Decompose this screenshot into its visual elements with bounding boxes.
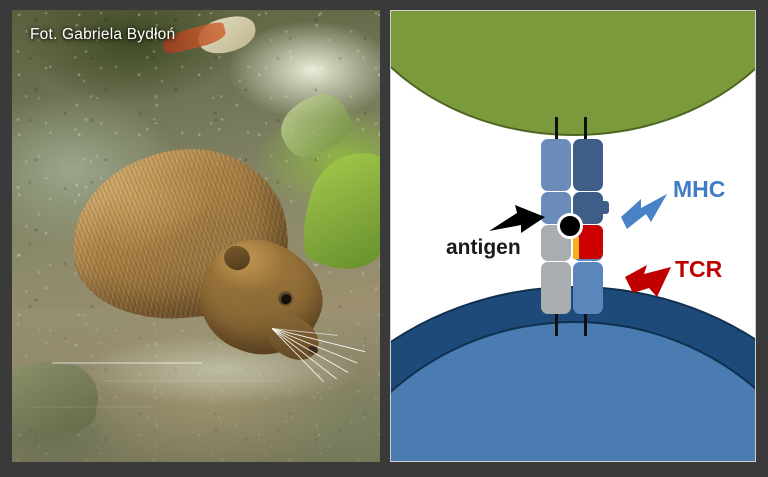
peptide-red-segment bbox=[579, 225, 603, 259]
mhc-stem-right bbox=[584, 117, 587, 139]
vole-whiskers bbox=[272, 328, 380, 408]
screenshot-root: Fot. Gabriela Bydłoń Antigen presenting … bbox=[0, 0, 768, 477]
mhc-arrow-icon bbox=[619, 189, 671, 231]
mhc-label: MHC bbox=[673, 176, 725, 203]
mhc-alpha-upper bbox=[541, 139, 571, 191]
vole-animal bbox=[72, 150, 312, 380]
tcr-arrow-icon bbox=[623, 261, 675, 303]
vole-photo-panel: Fot. Gabriela Bydłoń bbox=[12, 10, 380, 462]
tcr-stem-right bbox=[584, 314, 587, 336]
tcr-beta-constant bbox=[573, 262, 603, 314]
mhc-notch bbox=[602, 201, 609, 214]
mhc-stem-left bbox=[555, 117, 558, 139]
vole-eye bbox=[280, 293, 291, 304]
mhc-beta-upper bbox=[573, 139, 603, 191]
antigen-dot bbox=[557, 213, 583, 239]
antigen-label: antigen bbox=[446, 236, 521, 260]
tcr-alpha-constant bbox=[541, 262, 571, 314]
photo-artwork bbox=[12, 10, 380, 462]
antigen-presenting-cell-shape: Antigen presenting cell bbox=[390, 10, 756, 136]
photo-credit-text: Fot. Gabriela Bydłoń bbox=[30, 26, 175, 44]
antigen-presenting-cell-label: Antigen presenting cell bbox=[390, 10, 756, 12]
tcr-stem-left bbox=[555, 314, 558, 336]
immunology-diagram-panel: Antigen presenting cell T cell bbox=[390, 10, 756, 462]
apc-label-line-2: cell bbox=[390, 10, 756, 12]
tcr-label: TCR bbox=[675, 256, 722, 283]
antigen-arrow-icon bbox=[487, 201, 549, 241]
